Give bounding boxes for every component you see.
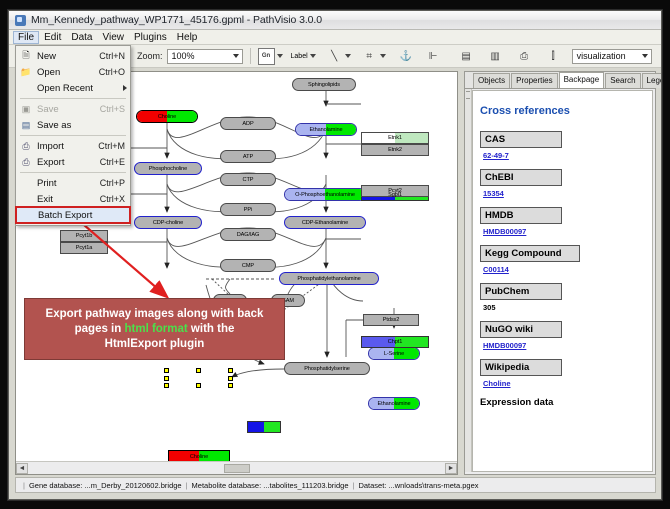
xref-value-hmdb[interactable]: HMDB00097 [483, 227, 645, 236]
gene-label: Pcyt1a [76, 245, 93, 251]
menu-item-accel: Ctrl+S [100, 104, 128, 114]
line-tool[interactable]: ╲ [326, 48, 351, 65]
zoom-combo[interactable]: 100% [167, 49, 243, 64]
node-ethanolamine-top[interactable]: Ethanolamine [295, 123, 357, 136]
xref-value-kegg[interactable]: C00114 [483, 265, 645, 274]
chevron-right-icon [123, 85, 127, 91]
tab-backpage[interactable]: Backpage [559, 72, 605, 88]
menu-item-import[interactable]: ⎙ Import Ctrl+M [16, 138, 130, 154]
tab-properties[interactable]: Properties [511, 73, 557, 88]
status-metabolite-db-label: Metabolite database: [192, 481, 262, 490]
callout-line-2: pages in html format with the [75, 322, 235, 337]
node-cdp-choline[interactable]: CDP-choline [134, 216, 202, 229]
xref-value-wikipedia[interactable]: Choline [483, 379, 645, 388]
xref-header-hmdb: HMDB [480, 207, 562, 224]
menu-item-print[interactable]: Print Ctrl+P [16, 175, 130, 191]
gene-pcyt1a[interactable]: Pcyt1a [60, 242, 108, 254]
menu-item-label: Print [34, 178, 100, 189]
node-label: CDP-Ethanolamine [302, 220, 348, 226]
chevron-down-icon [380, 54, 386, 58]
menu-item-label: Exit [34, 194, 100, 205]
chevron-down-icon [642, 54, 648, 58]
menu-separator [20, 135, 126, 136]
interaction-icon[interactable]: ⊩ [425, 48, 442, 65]
menu-item-label: Import [34, 141, 98, 152]
menu-item-accel: Ctrl+P [100, 178, 128, 188]
node-label: L-Serine [384, 351, 404, 357]
node-label: CMP [242, 263, 254, 269]
anchor-icon[interactable]: ⚓ [398, 48, 415, 65]
node-phosphocholine[interactable]: Phosphocholine [134, 162, 202, 175]
node-label: Ethanolamine [377, 401, 410, 407]
menu-item-label: Save [34, 104, 100, 115]
import-icon: ⎙ [18, 141, 34, 152]
menu-separator [20, 98, 126, 99]
node-label: CDP-choline [153, 220, 183, 226]
gene-ptdss2[interactable]: Ptdss2 [363, 314, 419, 326]
status-divider: | [186, 481, 188, 490]
order-icon[interactable]: ⫿ [545, 48, 562, 65]
node-label: Phosphatidylethanolamine [297, 276, 360, 282]
menu-item-open-recent[interactable]: Open Recent [16, 80, 130, 96]
xref-header-pubchem: PubChem [480, 283, 562, 300]
node-label: Phosphocholine [149, 166, 187, 172]
menu-separator [20, 172, 126, 173]
gene-etnk2[interactable]: Etnk2 [361, 144, 429, 156]
node-label: Choline [158, 114, 176, 120]
backpage-heading: Cross references [480, 105, 645, 117]
side-panel-tabs: Objects Properties Backpage Search Legen… [465, 72, 655, 89]
application-window: Mm_Kennedy_pathway_WP1771_45176.gpml - P… [8, 10, 662, 500]
xref-value-pubchem: 305 [483, 303, 645, 312]
node-dag-iag[interactable]: DAG/IAG [220, 228, 276, 241]
status-divider: | [23, 481, 25, 490]
shape-icon: ⌗ [361, 48, 378, 65]
node-ppi[interactable]: PPi [220, 203, 276, 216]
gene-icon: Gn [258, 48, 275, 65]
menu-item-open[interactable]: 📁 Open Ctrl+O [16, 64, 130, 80]
file-menu-dropdown[interactable]: 🗎 New Ctrl+N 📁 Open Ctrl+O Open Recent ▣… [15, 45, 131, 226]
menu-item-label: Batch Export [35, 210, 127, 221]
xref-header-kegg: Kegg Compound [480, 245, 580, 262]
menu-plugins[interactable]: Plugins [129, 31, 172, 44]
gene-pcyt1b[interactable]: Pcyt1b [60, 230, 108, 242]
xref-header-wikipedia: Wikipedia [480, 359, 562, 376]
tab-search[interactable]: Search [605, 73, 640, 88]
menu-item-accel: Ctrl+M [98, 141, 128, 151]
line-icon: ╲ [326, 48, 343, 65]
gene-etnk1[interactable]: Etnk1 [361, 132, 429, 144]
zoom-label: Zoom: [137, 51, 163, 61]
status-dataset-label: Dataset: [358, 481, 386, 490]
menu-item-exit[interactable]: Exit Ctrl+X [16, 191, 130, 207]
chevron-down-icon [277, 54, 283, 58]
open-folder-icon: 📁 [18, 67, 34, 78]
new-file-icon: 🗎 [18, 48, 34, 64]
canvas-hscrollbar[interactable]: ◄ ► [16, 461, 457, 474]
menu-data[interactable]: Data [66, 31, 97, 44]
xref-value-nugo[interactable]: HMDB00097 [483, 341, 645, 350]
node-cdp-ethanolamine[interactable]: CDP-Ethanolamine [284, 216, 366, 229]
status-dataset-value: ...wnloads\trans-meta.pgex [388, 481, 478, 490]
gene-tool[interactable]: Gn [258, 48, 283, 65]
node-choline-top[interactable]: Choline [136, 110, 198, 123]
menu-help[interactable]: Help [172, 31, 203, 44]
menu-item-accel: Ctrl+N [99, 51, 128, 61]
status-gene-db-value: ...m_Derby_20120602.bridge [84, 481, 181, 490]
screen-root: Mm_Kennedy_pathway_WP1771_45176.gpml - P… [0, 0, 670, 509]
menu-item-save: ▣ Save Ctrl+S [16, 101, 130, 117]
export-icon: ⎙ [18, 157, 34, 168]
backpage-content: Cross references CAS 62-49-7 ChEBI 15354… [472, 90, 653, 472]
node-phosphatidylserine[interactable]: Phosphatidylserine [284, 362, 370, 375]
node-half-green [264, 422, 280, 432]
gene-chpt1[interactable]: Chpt1 [361, 336, 429, 348]
node-ctp[interactable]: CTP [220, 173, 276, 186]
distribute-icon[interactable]: ▥ [487, 48, 504, 65]
visualization-value: visualization [577, 51, 626, 61]
pathvisio-icon [15, 15, 26, 26]
gene-label: Sgpl1 [388, 192, 402, 198]
annotation-callout: Export pathway images along with back pa… [24, 298, 285, 360]
gene-label: Etnk2 [388, 147, 402, 153]
toolbar-separator [250, 48, 251, 64]
menu-file[interactable]: File [13, 31, 39, 44]
tab-legend[interactable]: Legend [642, 73, 662, 88]
save-disk-icon: ▣ [18, 104, 34, 115]
chevron-down-icon [345, 54, 351, 58]
status-divider: | [352, 481, 354, 490]
menu-item-label: Open Recent [34, 83, 128, 94]
callout-line-1: Export pathway images along with back [46, 307, 264, 322]
node-l-serine[interactable]: L-Serine [368, 347, 420, 360]
xref-header-chebi: ChEBI [480, 169, 562, 186]
node-label: PPi [244, 207, 252, 213]
side-panel: Objects Properties Backpage Search Legen… [464, 71, 656, 475]
zoom-value: 100% [172, 51, 195, 61]
scroll-thumb[interactable] [224, 464, 250, 473]
menu-item-save-as[interactable]: ▤ Save as [16, 117, 130, 133]
label-tool-text: Label [291, 53, 308, 60]
gene-label: Etnk1 [388, 135, 402, 141]
node-label: CTP [243, 177, 254, 183]
menu-item-label: Save as [34, 120, 125, 131]
callout-line-2a: pages in [75, 323, 125, 335]
node-label: Phosphatidylserine [304, 366, 349, 372]
node-cmp[interactable]: CMP [220, 259, 276, 272]
xref-value-cas[interactable]: 62-49-7 [483, 151, 645, 160]
menu-item-accel: Ctrl+X [100, 194, 128, 204]
node-label: Sphingolipids [308, 82, 340, 88]
chevron-down-icon [233, 54, 239, 58]
visualization-combo[interactable]: visualization [572, 49, 652, 64]
node-ethanolamine-bottom[interactable]: Ethanolamine [368, 397, 420, 410]
node-o-phosphoethanolamine[interactable]: O-Phosphoethanolamine [284, 188, 366, 201]
align-icon[interactable]: ▤ [458, 48, 475, 65]
status-gene-db-label: Gene database: [29, 481, 82, 490]
node-atp[interactable]: ATP [220, 150, 276, 163]
node-label: Ethanolamine [309, 127, 342, 133]
node-adp[interactable]: ADP [220, 117, 276, 130]
callout-line-2b: with the [188, 323, 235, 335]
gene-label: Chpt1 [388, 339, 402, 345]
splitter-grip-icon [466, 91, 470, 99]
node-label: O-Phosphoethanolamine [295, 192, 355, 198]
status-bar: | Gene database: ...m_Derby_20120602.bri… [15, 477, 656, 493]
label-tool[interactable]: Label [291, 53, 316, 60]
expression-data-heading: Expression data [480, 397, 645, 408]
panel-splitter[interactable] [465, 89, 472, 472]
node-label: ADP [242, 121, 253, 127]
node-sphingolipids[interactable]: Sphingolipids [292, 78, 356, 91]
menu-item-accel: Ctrl+O [99, 67, 128, 77]
menu-view[interactable]: View [97, 31, 129, 44]
menu-item-accel: Ctrl+E [100, 157, 128, 167]
node-label: ATP [243, 154, 253, 160]
xref-value-chebi[interactable]: 15354 [483, 189, 645, 198]
scroll-right-icon[interactable]: ► [445, 463, 457, 474]
node-label: Choline [190, 454, 208, 460]
status-metabolite-db-value: ...tabolites_111203.bridge [263, 481, 348, 490]
menu-item-new[interactable]: 🗎 New Ctrl+N [16, 48, 130, 64]
tab-objects[interactable]: Objects [473, 73, 510, 88]
menu-item-export[interactable]: ⎙ Export Ctrl+E [16, 154, 130, 170]
title-bar: Mm_Kennedy_pathway_WP1771_45176.gpml - P… [9, 11, 661, 30]
menu-edit[interactable]: Edit [39, 31, 66, 44]
gene-label: Pcyt1b [76, 233, 93, 239]
window-title: Mm_Kennedy_pathway_WP1771_45176.gpml - P… [31, 14, 322, 26]
scroll-left-icon[interactable]: ◄ [16, 463, 28, 474]
shape-tool[interactable]: ⌗ [361, 48, 386, 65]
xref-header-nugo: NuGO wiki [480, 321, 562, 338]
menu-item-label: New [34, 51, 99, 62]
save-as-icon: ▤ [18, 120, 34, 131]
callout-line-3: HtmlExport plugin [105, 337, 205, 352]
gene-label: Ptdss2 [383, 317, 400, 323]
menu-bar: File Edit Data View Plugins Help [9, 30, 661, 45]
node-phosphatidylethanolamine[interactable]: Phosphatidylethanolamine [279, 272, 379, 285]
menu-item-batch-export[interactable]: Batch Export [16, 207, 130, 223]
chevron-down-icon [310, 54, 316, 58]
print-icon[interactable]: ⎙ [516, 48, 533, 65]
node-label: DAG/IAG [237, 232, 260, 238]
menu-item-label: Export [34, 157, 100, 168]
xref-header-cas: CAS [480, 131, 562, 148]
menu-item-label: Open [34, 67, 99, 78]
node-half-blue [248, 422, 264, 432]
gene-pemt[interactable] [247, 421, 281, 433]
callout-highlight: html format [124, 323, 187, 335]
